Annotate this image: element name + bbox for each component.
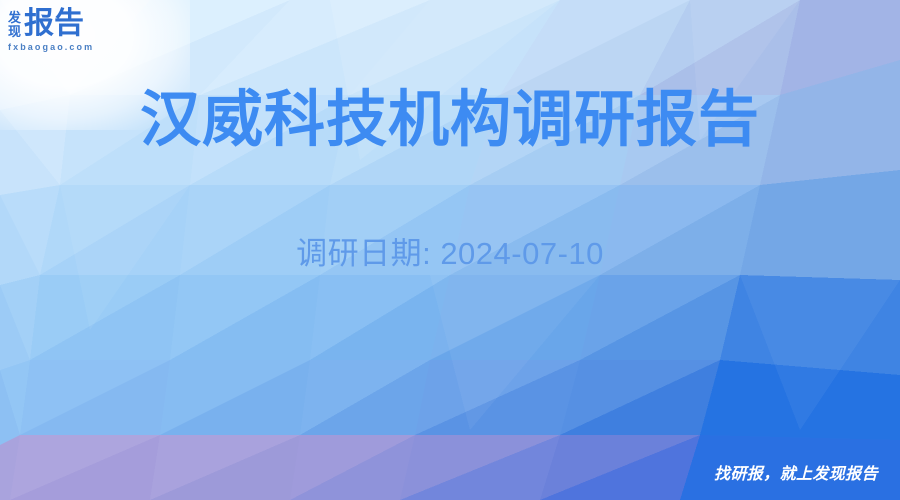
- logo-mark-faxian: 发 现: [8, 10, 21, 38]
- report-cover-slide: 发 现 报告 fxbaogao.com 汉威科技机构调研报告 调研日期: 202…: [0, 0, 900, 500]
- logo-wordmark-baogao: 报告: [24, 9, 84, 39]
- logo-mark-char-fa: 发: [8, 11, 21, 24]
- footer-slogan: 找研报，就上发现报告: [714, 460, 878, 484]
- logo-domain-text: fxbaogao.com: [8, 42, 94, 52]
- logo-wordmark-row: 发 现 报告: [8, 9, 84, 39]
- page-title: 汉威科技机构调研报告: [0, 84, 900, 154]
- brand-logo[interactable]: 发 现 报告 fxbaogao.com: [8, 9, 94, 52]
- survey-date-subtitle: 调研日期: 2024-07-10: [0, 228, 900, 273]
- logo-mark-char-xian: 现: [8, 25, 21, 38]
